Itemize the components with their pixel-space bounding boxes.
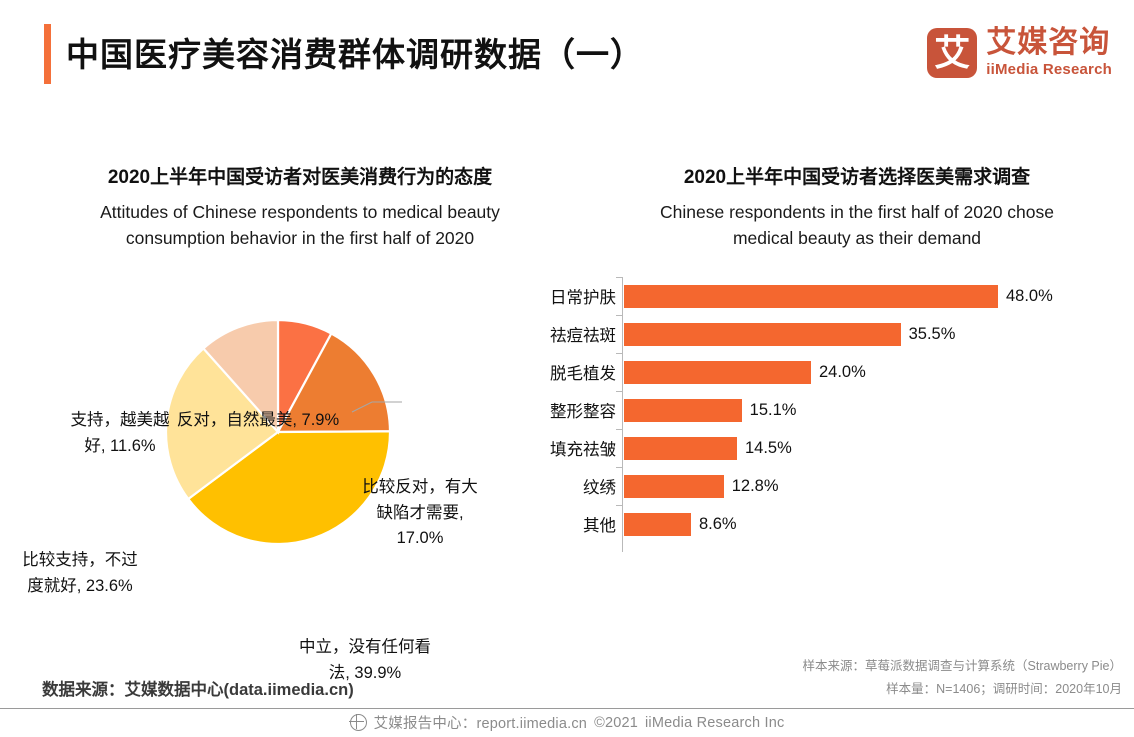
- pie-label-support-line2: 好, 11.6%: [71, 434, 170, 460]
- bar-axis-tick: [616, 429, 622, 430]
- bar-rect[interactable]: [624, 399, 742, 422]
- pie-label-somewhat-support: 比较支持，不过 度就好, 23.6%: [22, 548, 138, 599]
- pie-label-somewhat-oppose-line3: 17.0%: [362, 526, 478, 552]
- bar-value-label: 15.1%: [750, 401, 797, 420]
- footer-sample-size: 样本量：N=1406；调研时间：2020年10月: [803, 678, 1122, 701]
- footer-sample-source: 样本来源：草莓派数据调查与计算系统（Strawberry Pie）: [803, 655, 1122, 678]
- bar-value-label: 14.5%: [745, 439, 792, 458]
- pie-chart-title-en-line1: Attitudes of Chinese respondents to medi…: [20, 199, 580, 225]
- footer-divider: [0, 708, 1134, 709]
- bar-rect[interactable]: [624, 437, 737, 460]
- bar-category-label: 填充祛皱: [520, 436, 616, 460]
- bar-chart-panel: 2020上半年中国受访者选择医美需求调查 Chinese respondents…: [580, 165, 1134, 595]
- pie-label-neutral-line1: 中立，没有任何看: [299, 635, 431, 661]
- bar-chart-title-en-line2: medical beauty as their demand: [580, 225, 1134, 251]
- bar-value-label: 35.5%: [909, 325, 956, 344]
- pie-label-somewhat-support-line1: 比较支持，不过: [22, 548, 138, 574]
- bar-category-label: 祛痘祛斑: [520, 322, 616, 346]
- bar-category-label: 日常护肤: [520, 284, 616, 308]
- bar-row: 其他8.6%: [580, 505, 1134, 543]
- pie-chart-panel: 2020上半年中国受访者对医美消费行为的态度 Attitudes of Chin…: [20, 165, 580, 595]
- bar-axis-tick: [616, 315, 622, 316]
- bar-axis-tick: [616, 391, 622, 392]
- pie-label-somewhat-oppose-line1: 比较反对，有大: [362, 475, 478, 501]
- bar-row: 纹绣12.8%: [580, 467, 1134, 505]
- bar-chart-title-en: Chinese respondents in the first half of…: [580, 199, 1134, 252]
- bar-rect[interactable]: [624, 323, 901, 346]
- bar-axis-tick: [616, 353, 622, 354]
- bar-axis-tick: [616, 467, 622, 468]
- bar-category-label: 纹绣: [520, 474, 616, 498]
- footer-sample-block: 样本来源：草莓派数据调查与计算系统（Strawberry Pie） 样本量：N=…: [803, 655, 1122, 701]
- bar-row: 脱毛植发24.0%: [580, 353, 1134, 391]
- pie-label-support: 支持，越美越 好, 11.6%: [71, 408, 170, 459]
- title-accent-bar: [44, 24, 51, 84]
- bar-category-label: 脱毛植发: [520, 360, 616, 384]
- footer-company: iiMedia Research Inc: [645, 715, 784, 731]
- bar-rect[interactable]: [624, 285, 998, 308]
- bar-axis-tick: [616, 505, 622, 506]
- bar-category-label: 整形整容: [520, 398, 616, 422]
- pie-label-somewhat-oppose: 比较反对，有大 缺陷才需要, 17.0%: [362, 475, 478, 552]
- bar-rect[interactable]: [624, 361, 811, 384]
- bar-row: 填充祛皱14.5%: [580, 429, 1134, 467]
- globe-icon: [350, 714, 367, 731]
- brand-text: 艾媒咨询 iiMedia Research: [986, 27, 1112, 79]
- brand-name-en: iiMedia Research: [986, 61, 1112, 79]
- pie-label-support-line1: 支持，越美越: [71, 408, 170, 434]
- bar-value-label: 8.6%: [699, 515, 737, 534]
- bar-value-label: 24.0%: [819, 363, 866, 382]
- footer-bottom-bar: 艾媒报告中心：report.iimedia.cn ©2021 iiMedia R…: [0, 712, 1134, 733]
- bar-rect[interactable]: [624, 513, 691, 536]
- footer-copyright: ©2021: [594, 715, 638, 731]
- bar-row: 日常护肤48.0%: [580, 277, 1134, 315]
- pie-chart-title-cn: 2020上半年中国受访者对医美消费行为的态度: [20, 165, 580, 191]
- bar-chart-area: 日常护肤48.0%祛痘祛斑35.5%脱毛植发24.0%整形整容15.1%填充祛皱…: [580, 277, 1134, 567]
- pie-chart-title-en: Attitudes of Chinese respondents to medi…: [20, 199, 580, 252]
- bar-row: 祛痘祛斑35.5%: [580, 315, 1134, 353]
- page-title: 中国医疗美容消费群体调研数据（一）: [66, 28, 644, 76]
- pie-label-somewhat-oppose-line2: 缺陷才需要,: [362, 501, 478, 527]
- bar-chart-title-en-line1: Chinese respondents in the first half of…: [580, 199, 1134, 225]
- page-header: 中国医疗美容消费群体调研数据（一） 艾 艾媒咨询 iiMedia Researc…: [0, 0, 1134, 108]
- bar-chart-title-cn: 2020上半年中国受访者选择医美需求调查: [580, 165, 1134, 191]
- pie-label-oppose-line1: 反对，自然最美, 7.9%: [177, 408, 339, 434]
- bar-value-label: 48.0%: [1006, 287, 1053, 306]
- bar-axis-tick: [616, 277, 622, 278]
- bar-category-label: 其他: [520, 512, 616, 536]
- footer-report-center[interactable]: 艾媒报告中心：report.iimedia.cn: [374, 712, 588, 733]
- iimedia-logo-icon: 艾: [927, 28, 977, 78]
- pie-chart-area: 反对，自然最美, 7.9% 支持，越美越 好, 11.6% 比较支持，不过 度就…: [20, 280, 580, 590]
- bar-row: 整形整容15.1%: [580, 391, 1134, 429]
- pie-chart-title-en-line2: consumption behavior in the first half o…: [20, 225, 580, 251]
- pie-label-somewhat-support-line2: 度就好, 23.6%: [22, 574, 138, 600]
- footer-data-source: 数据来源：艾媒数据中心(data.iimedia.cn): [42, 676, 354, 700]
- bar-value-label: 12.8%: [732, 477, 779, 496]
- pie-label-oppose: 反对，自然最美, 7.9%: [177, 408, 339, 434]
- brand-logo: 艾 艾媒咨询 iiMedia Research: [927, 24, 1112, 82]
- bar-rect[interactable]: [624, 475, 724, 498]
- brand-name-cn: 艾媒咨询: [986, 27, 1112, 59]
